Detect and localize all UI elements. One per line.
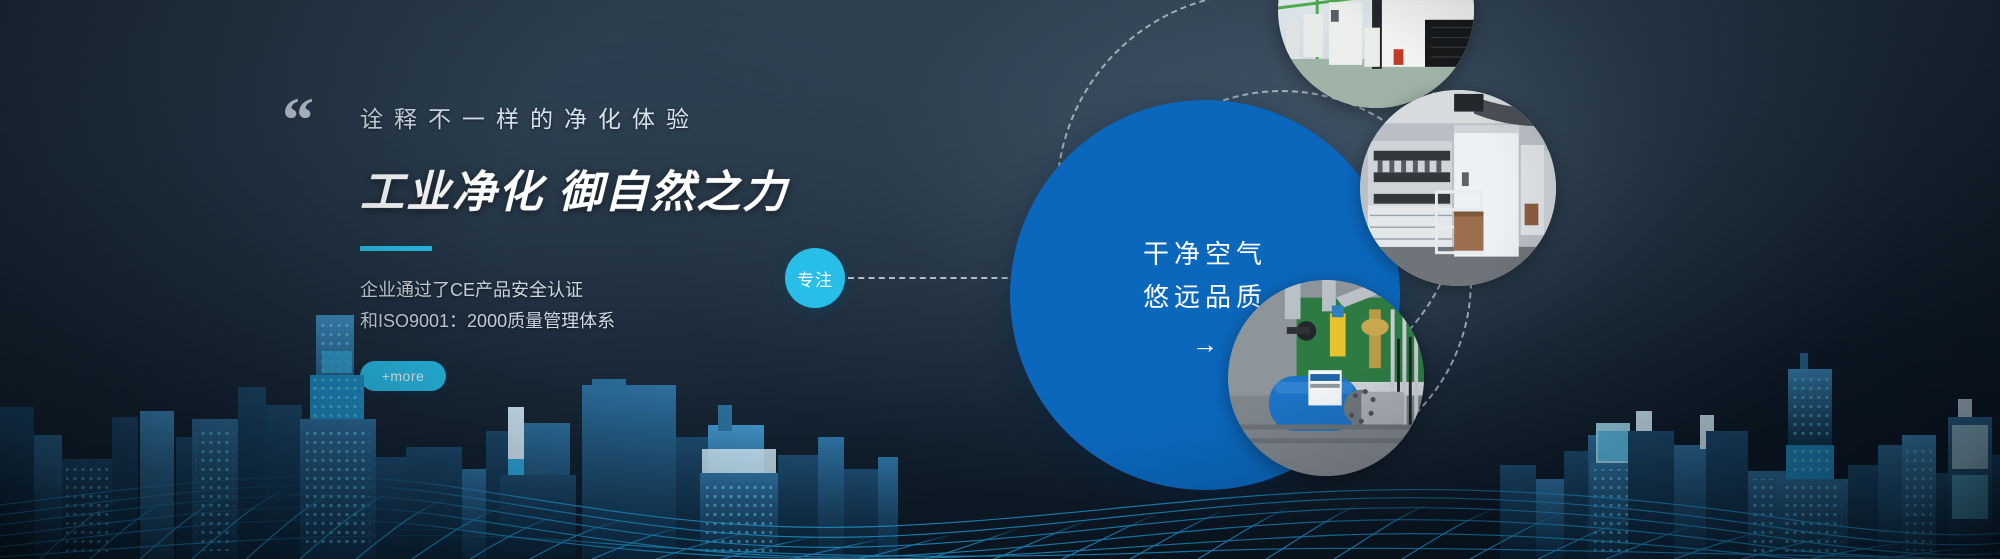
feature-circle-line-2: 悠远品质	[1143, 276, 1267, 319]
hero-headline: 工业净化 御自然之力	[360, 156, 1000, 220]
photo-textile-machinery-hall[interactable]	[1360, 90, 1556, 286]
accent-divider	[360, 246, 432, 251]
arrow-right-icon: →	[1192, 331, 1218, 357]
city-skyline-graphic	[0, 259, 2000, 559]
hero-copy-block: “ 诠释不一样的净化体验 工业净化 御自然之力 企业通过了CE产品安全认证 和I…	[360, 100, 1000, 391]
hero-tagline: 诠释不一样的净化体验	[360, 100, 1000, 134]
feature-circle-line-1: 干净空气	[1143, 233, 1267, 276]
badge-connector-line	[848, 277, 1018, 279]
feature-circle-cluster: 干净空气 悠远品质 →	[1010, 0, 1650, 559]
focus-badge[interactable]: 专注	[785, 248, 845, 308]
hero-banner: “ 诠释不一样的净化体验 工业净化 御自然之力 企业通过了CE产品安全认证 和I…	[0, 0, 2000, 559]
hero-description: 企业通过了CE产品安全认证 和ISO9001：2000质量管理体系	[360, 275, 1000, 337]
quote-mark-icon: “	[282, 88, 312, 152]
description-line-2: 和ISO9001：2000质量管理体系	[360, 306, 1000, 337]
more-button[interactable]: +more	[360, 361, 446, 391]
description-line-1: 企业通过了CE产品安全认证	[360, 275, 1000, 306]
photo-blue-pipe-valve-equipment[interactable]	[1228, 280, 1424, 476]
